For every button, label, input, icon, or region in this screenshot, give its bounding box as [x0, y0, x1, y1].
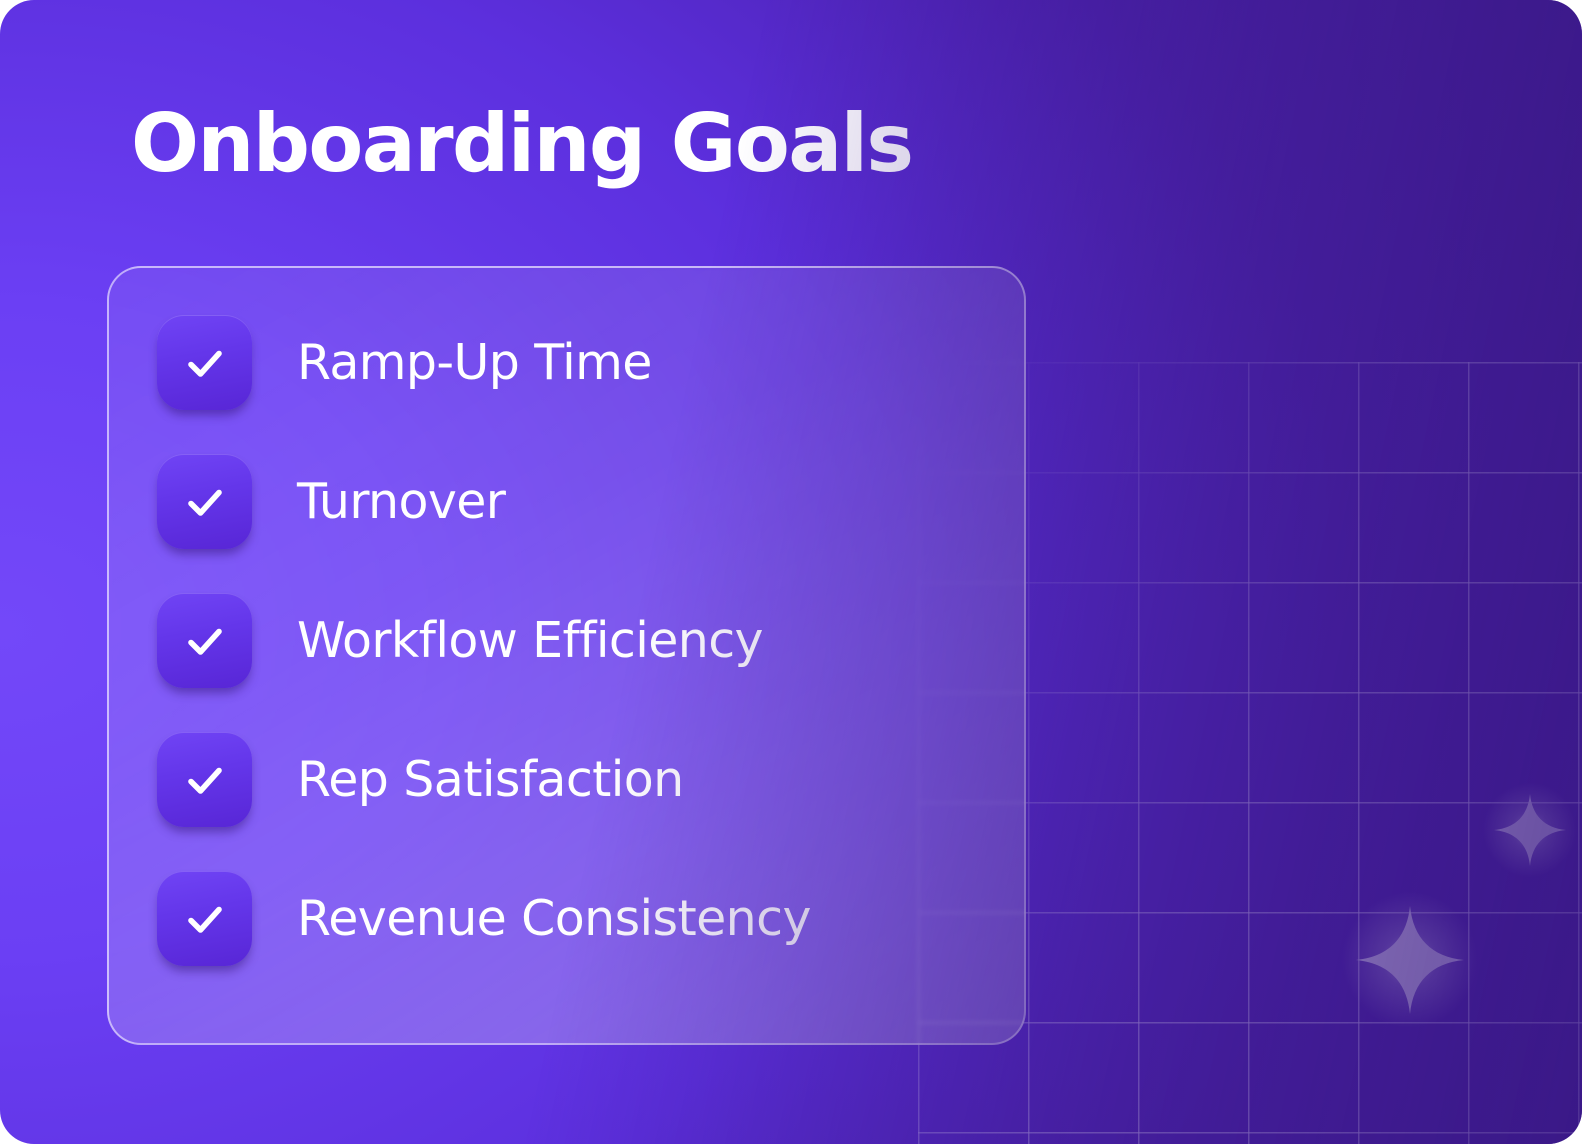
goal-label: Revenue Consistency — [297, 894, 811, 943]
sparkle-small-icon — [1494, 794, 1566, 866]
goal-label: Workflow Efficiency — [297, 616, 763, 665]
goal-item-rep-satisfaction[interactable]: Rep Satisfaction — [157, 710, 1024, 849]
goal-item-ramp-up-time[interactable]: Ramp-Up Time — [157, 293, 1024, 432]
checkbox-turnover[interactable] — [157, 454, 252, 549]
page-title: Onboarding Goals — [131, 104, 912, 184]
goal-label: Turnover — [297, 477, 505, 526]
goal-label: Rep Satisfaction — [297, 755, 684, 804]
checkbox-rep-satisfaction[interactable] — [157, 732, 252, 827]
checkbox-workflow-efficiency[interactable] — [157, 593, 252, 688]
checkmark-icon — [179, 476, 231, 528]
onboarding-goals-card: Ramp-Up Time Turnover Workflow Efficienc… — [107, 266, 1026, 1045]
sparkle-large-icon — [1356, 906, 1464, 1014]
checkmark-icon — [179, 754, 231, 806]
goal-item-revenue-consistency[interactable]: Revenue Consistency — [157, 849, 1024, 988]
promo-graphic-canvas: Onboarding Goals Ramp-Up Time Turnover — [0, 0, 1582, 1144]
checkmark-icon — [179, 893, 231, 945]
goal-item-turnover[interactable]: Turnover — [157, 432, 1024, 571]
goal-item-workflow-efficiency[interactable]: Workflow Efficiency — [157, 571, 1024, 710]
checkbox-revenue-consistency[interactable] — [157, 871, 252, 966]
checkbox-ramp-up-time[interactable] — [157, 315, 252, 410]
goals-list: Ramp-Up Time Turnover Workflow Efficienc… — [157, 293, 1024, 988]
checkmark-icon — [179, 337, 231, 389]
checkmark-icon — [179, 615, 231, 667]
goal-label: Ramp-Up Time — [297, 338, 652, 387]
